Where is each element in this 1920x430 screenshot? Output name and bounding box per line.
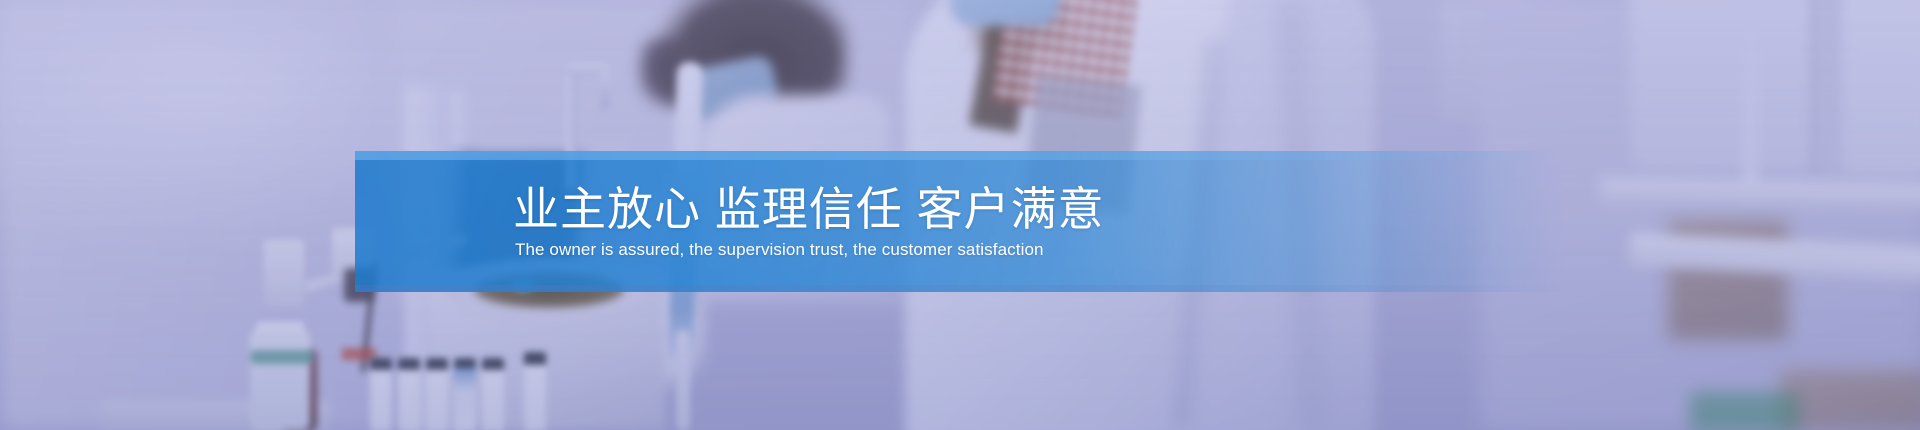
caption-text-block: 业主放心 监理信任 客户满意 The owner is assured, the… <box>355 151 1565 292</box>
banner-subtitle: The owner is assured, the supervision tr… <box>355 239 1044 261</box>
banner-headline: 业主放心 监理信任 客户满意 <box>355 182 1105 236</box>
hero-banner: 业主放心 监理信任 客户满意 The owner is assured, the… <box>0 0 1920 430</box>
